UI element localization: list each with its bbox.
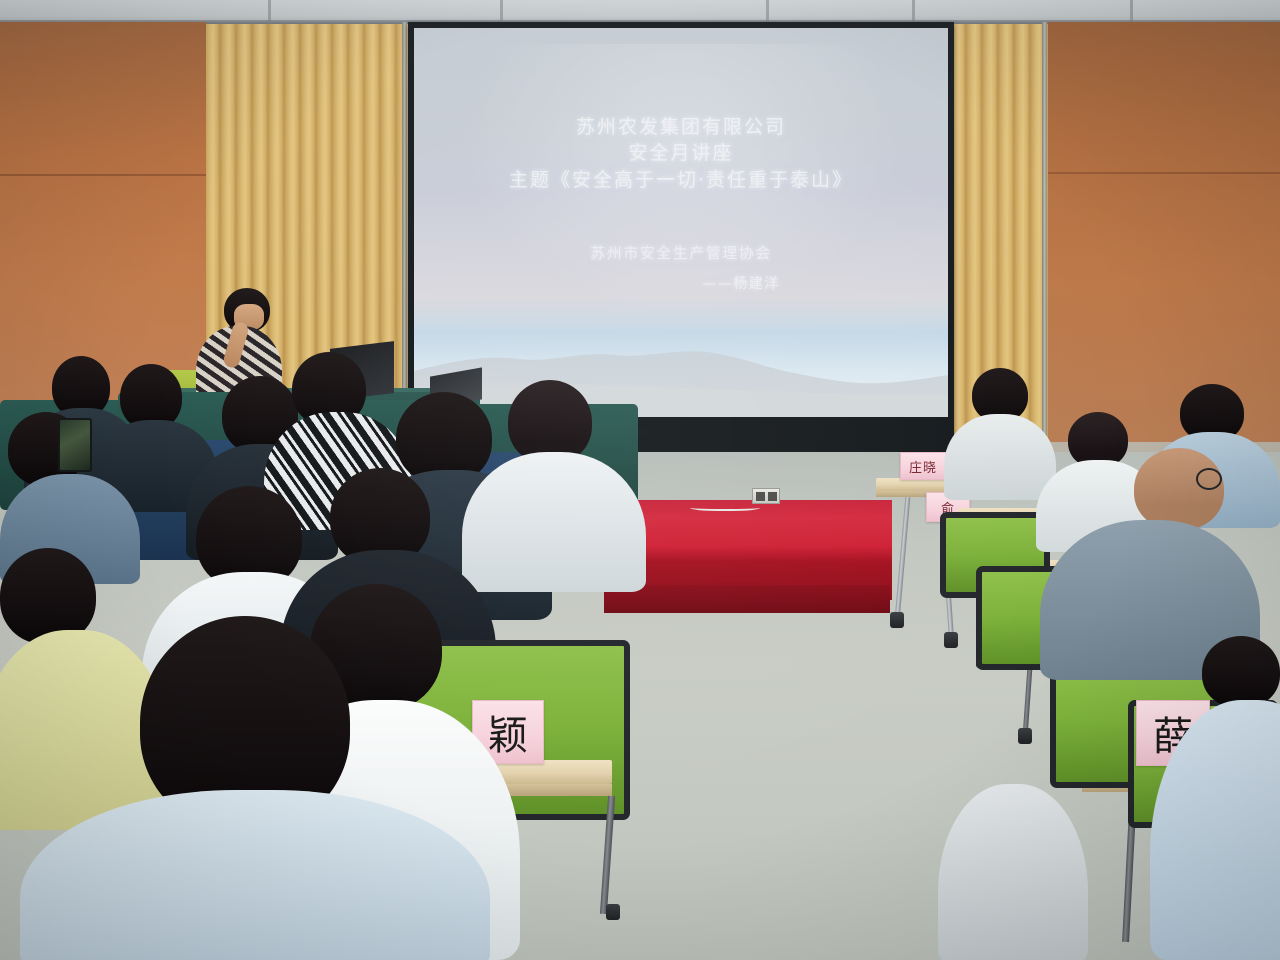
ceiling-seam — [268, 0, 271, 26]
slide-line-3: 主题《安全高于一切·责任重于泰山》 — [509, 166, 853, 194]
glasses-icon — [1196, 468, 1222, 490]
power-cable — [690, 503, 760, 511]
desk-caster — [890, 612, 904, 628]
stage-front-edge — [604, 585, 890, 613]
lecture-hall-photo: 苏州农发集团有限公司 安全月讲座 主题《安全高于一切·责任重于泰山》 苏州市安全… — [0, 0, 1280, 960]
desk-caster — [944, 632, 958, 648]
desk-caster — [606, 904, 620, 920]
wall-panel-right — [1048, 22, 1280, 442]
slide-line-1: 苏州农发集团有限公司 — [576, 114, 786, 140]
wall-outlet — [752, 488, 780, 504]
slide-author: ——杨建洋 — [582, 273, 780, 293]
slide-organization: 苏州市安全生产管理协会 — [590, 242, 772, 263]
name-card: 庄晓 — [900, 452, 946, 480]
desk-caster — [1018, 728, 1032, 744]
panel-edge-trim — [1042, 22, 1047, 456]
smartphone-icon — [58, 418, 92, 472]
slide-text-block: 苏州农发集团有限公司 安全月讲座 主题《安全高于一切·责任重于泰山》 苏州市安全… — [414, 28, 948, 417]
projection-screen: 苏州农发集团有限公司 安全月讲座 主题《安全高于一切·责任重于泰山》 苏州市安全… — [414, 28, 948, 417]
slide-line-2: 安全月讲座 — [628, 140, 733, 166]
